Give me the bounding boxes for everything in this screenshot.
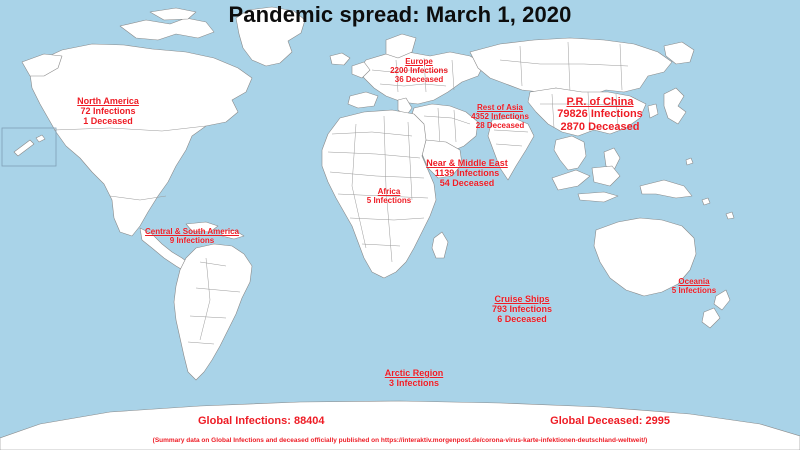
region-deceased-pr-of-china: 2870 Deceased <box>541 121 659 133</box>
region-name-near-middle-east: Near & Middle East <box>406 158 528 168</box>
region-label-north-america: North America 72 Infections 1 Deceased <box>52 96 164 126</box>
region-infections-near-middle-east: 1139 Infections <box>406 168 528 178</box>
pandemic-map-screenshot: Pandemic spread: March 1, 2020 North Ame… <box>0 0 800 450</box>
region-deceased-near-middle-east: 54 Deceased <box>406 178 528 188</box>
region-label-arctic-region: Arctic Region 3 Infections <box>360 368 468 388</box>
region-deceased-cruise-ships: 6 Deceased <box>470 314 574 324</box>
region-infections-cruise-ships: 793 Infections <box>470 304 574 314</box>
global-infections-total: Global Infections: 88404 <box>198 415 325 427</box>
region-label-africa: Africa 5 Infections <box>352 188 426 206</box>
source-note: (Summary data on Global Infections and d… <box>0 437 800 444</box>
region-infections-oceania: 5 Infections <box>650 287 738 296</box>
region-label-central-south-america: Central & South America 9 Infections <box>128 228 256 246</box>
region-deceased-north-america: 1 Deceased <box>52 116 164 126</box>
page-title: Pandemic spread: March 1, 2020 <box>0 2 800 28</box>
region-infections-pr-of-china: 79826 Infections <box>541 108 659 120</box>
region-label-europe: Europe 2200 Infections 36 Deceased <box>366 58 472 85</box>
region-label-pr-of-china: P.R. of China 79826 Infections 2870 Dece… <box>541 96 659 133</box>
region-infections-arctic-region: 3 Infections <box>360 378 468 388</box>
region-label-near-middle-east: Near & Middle East 1139 Infections 54 De… <box>406 158 528 188</box>
region-name-north-america: North America <box>52 96 164 106</box>
region-name-arctic-region: Arctic Region <box>360 368 468 378</box>
global-deceased-total: Global Deceased: 2995 <box>550 415 670 427</box>
region-infections-africa: 5 Infections <box>352 197 426 206</box>
region-name-cruise-ships: Cruise Ships <box>470 294 574 304</box>
region-label-oceania: Oceania 5 Infections <box>650 278 738 296</box>
region-deceased-europe: 36 Deceased <box>366 76 472 85</box>
region-infections-central-south-america: 9 Infections <box>128 237 256 246</box>
region-name-pr-of-china: P.R. of China <box>541 96 659 108</box>
region-label-cruise-ships: Cruise Ships 793 Infections 6 Deceased <box>470 294 574 324</box>
region-infections-north-america: 72 Infections <box>52 106 164 116</box>
region-deceased-rest-of-asia: 28 Deceased <box>448 122 552 131</box>
region-label-rest-of-asia: Rest of Asia 4352 Infections 28 Deceased <box>448 104 552 131</box>
